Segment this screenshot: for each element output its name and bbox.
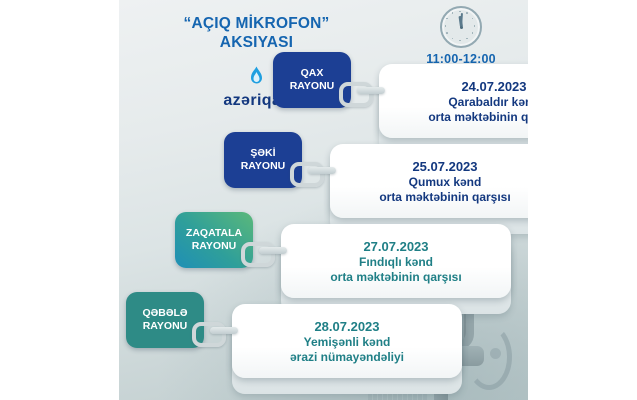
chain-link-connector	[192, 322, 240, 339]
schedule-card[interactable]: 27.07.2023Fındıqlı kəndorta məktəbinin q…	[281, 224, 511, 298]
region-suffix: RAYONU	[290, 80, 335, 93]
title-line-1: “AÇIQ MİKROFON”	[119, 14, 394, 33]
poster-canvas: “AÇIQ MİKROFON” AKSIYASI azəriqaz 11:00-…	[119, 0, 528, 400]
title-line-2: AKSIYASI	[119, 33, 394, 52]
clock-tick	[452, 12, 454, 14]
event-date: 25.07.2023	[412, 158, 477, 175]
region-name: QƏBƏLƏ	[142, 307, 187, 320]
event-place-line-1: Qarabaldır kənd	[448, 95, 528, 110]
link-bar	[357, 87, 385, 94]
clock-icon	[440, 6, 482, 48]
region-suffix: RAYONU	[241, 160, 286, 173]
link-ring	[290, 162, 324, 187]
clock-tick	[472, 32, 474, 34]
event-place-line-1: Yemişənli kənd	[304, 335, 391, 350]
link-ring	[241, 242, 275, 267]
event-place-line-1: Qumux kənd	[409, 175, 482, 190]
clock-tick	[459, 40, 461, 42]
clock-center-pin	[460, 26, 463, 29]
region-name: ZAQATALA	[186, 227, 242, 240]
flame-icon	[248, 66, 265, 89]
time-block: 11:00-12:00	[394, 6, 528, 66]
event-place-line-2: orta məktəbinin qarşısı	[428, 110, 528, 125]
link-bar	[210, 327, 238, 334]
event-place-line-2: ərazi nümayəndəliyi	[290, 350, 404, 365]
chain-link-connector	[290, 162, 338, 179]
region-name: ŞƏKİ	[250, 147, 275, 160]
schedule-card[interactable]: 25.07.2023Qumux kəndorta məktəbinin qarş…	[330, 144, 528, 218]
page-title: “AÇIQ MİKROFON” AKSIYASI	[119, 14, 394, 52]
clock-tick	[466, 12, 468, 14]
link-ring	[339, 82, 373, 107]
event-date: 27.07.2023	[363, 238, 428, 255]
chain-link-connector	[241, 242, 289, 259]
event-date: 24.07.2023	[461, 78, 526, 95]
clock-tick	[446, 18, 448, 20]
clock-minute-hand	[460, 13, 463, 27]
region-suffix: RAYONU	[192, 240, 237, 253]
event-place-line-2: orta məktəbinin qarşısı	[379, 190, 510, 205]
region-name: QAX	[301, 67, 324, 80]
clock-tick	[446, 32, 448, 34]
link-bar	[259, 247, 287, 254]
event-place-line-1: Fındıqlı kənd	[359, 255, 433, 270]
clock-tick	[445, 25, 447, 27]
link-ring	[192, 322, 226, 347]
mic-knob-right	[490, 348, 501, 359]
chain-link-connector	[339, 82, 387, 99]
clock-tick	[466, 38, 468, 40]
clock-tick	[459, 11, 461, 13]
link-bar	[308, 167, 336, 174]
event-date: 28.07.2023	[314, 318, 379, 335]
clock-tick	[472, 18, 474, 20]
clock-tick	[474, 25, 476, 27]
clock-tick	[452, 38, 454, 40]
event-place-line-2: orta məktəbinin qarşısı	[330, 270, 461, 285]
schedule-card[interactable]: 28.07.2023Yemişənli kəndərazi nümayəndəl…	[232, 304, 462, 378]
schedule-card[interactable]: 24.07.2023Qarabaldır kəndorta məktəbinin…	[379, 64, 528, 138]
region-suffix: RAYONU	[143, 320, 188, 333]
